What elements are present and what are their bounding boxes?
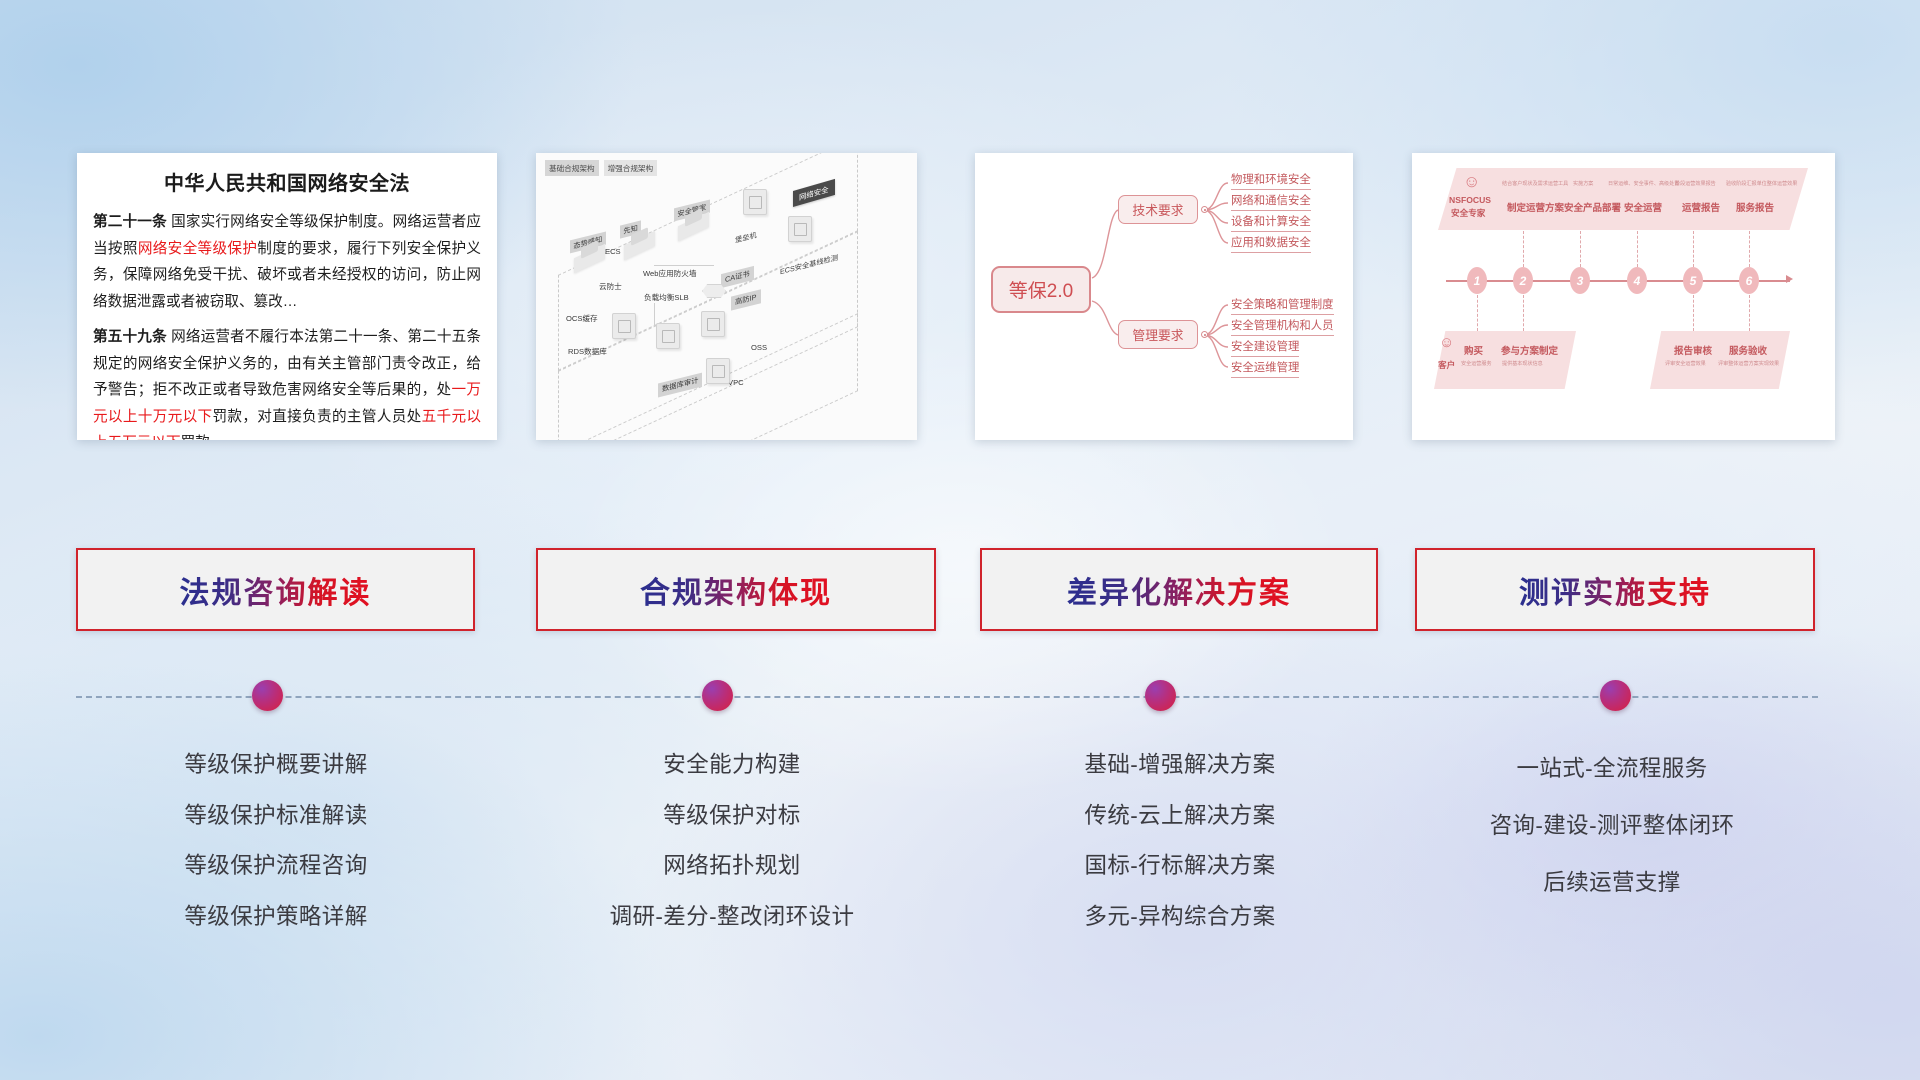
section-title: 合规架构体现 <box>640 568 832 612</box>
mindmap-branch-technical: 技术要求 <box>1118 195 1198 224</box>
mindmap-leaf: 安全运维管理 <box>1231 359 1299 378</box>
mindmap-leaf: 安全策略和管理制度 <box>1231 296 1334 315</box>
label-load-balancer-slb: 负载均衡SLB <box>644 292 689 303</box>
mindmap-branch-management: 管理要求 <box>1118 320 1198 349</box>
flow-band-expert <box>1438 168 1808 230</box>
mindmap-leaf: 设备和计算安全 <box>1231 213 1311 232</box>
flow-sub: 结合客户现状及需求运营工具 <box>1502 180 1568 187</box>
section-heading-box-4[interactable]: 测评实施支持 <box>1415 548 1815 631</box>
flow-caption: 运营报告 <box>1682 200 1720 214</box>
timeline-dashed-line <box>76 696 1818 698</box>
label-ecs: ECS <box>605 247 621 256</box>
mindmap-leaf: 安全管理机构和人员 <box>1231 317 1334 336</box>
article-21-label: 第二十一条 <box>93 214 167 230</box>
article-59-text-2: 罚款，对直接负责的主管人员处 <box>212 409 421 425</box>
flow-caption: 服务报告 <box>1736 200 1774 214</box>
flow-step-number: 5 <box>1683 267 1703 294</box>
flow-caption: 参与方案制定 <box>1501 343 1558 357</box>
node-xianzhi: 先知 <box>624 238 655 253</box>
label-oss: OSS <box>751 343 767 352</box>
server-ecs-baseline: ECS安全基线检测 <box>788 216 812 242</box>
flow-sub: 验收阶段汇报单位整体运营效果 <box>1726 180 1797 187</box>
flow-step-number: 6 <box>1739 267 1759 294</box>
flow-step-number: 3 <box>1570 267 1590 294</box>
list-item: 等级保护标准解读 <box>76 791 476 842</box>
article-59-label: 第五十九条 <box>93 329 167 345</box>
label-web-application-firewall: Web应用防火墙 <box>643 268 696 279</box>
label-rds-database: RDS数据库 <box>568 346 607 357</box>
list-item: 网络拓扑规划 <box>532 841 932 892</box>
list-item: 传统-云上解决方案 <box>980 791 1380 842</box>
mindmap-root: 等保2.0 <box>991 266 1091 313</box>
list-item: 一站式-全流程服务 <box>1412 740 1812 797</box>
list-item: 多元-异构综合方案 <box>980 892 1380 943</box>
section-title: 测评实施支持 <box>1519 568 1711 612</box>
flow-step-number: 4 <box>1627 267 1647 294</box>
flow-step-number: 2 <box>1513 267 1533 294</box>
section-heading-box-1[interactable]: 法规咨询解读 <box>76 548 475 631</box>
mindmap-expand-icon[interactable] <box>1201 331 1208 338</box>
server-bastion-host: 堡垒机 <box>743 189 767 215</box>
section-items-3: 基础-增强解决方案 传统-云上解决方案 国标-行标解决方案 多元-异构综合方案 <box>980 740 1380 942</box>
label-ocs-cache: OCS缓存 <box>566 313 598 324</box>
section-title: 法规咨询解读 <box>180 568 372 612</box>
timeline-dot-4[interactable] <box>1600 680 1631 711</box>
flow-arrow-icon <box>1786 275 1793 283</box>
section-items-2: 安全能力构建 等级保护对标 网络拓扑规划 调研-差分-整改闭环设计 <box>532 740 932 942</box>
server-rds <box>656 323 680 349</box>
article-21-highlight: 网络安全等级保护 <box>138 241 257 257</box>
expert-label-line2: 安全专家 <box>1451 207 1485 219</box>
list-item: 安全能力构建 <box>532 740 932 791</box>
list-item: 后续运营支撑 <box>1412 854 1812 911</box>
flow-step-number: 1 <box>1467 267 1487 294</box>
expert-person-icon: ☺ <box>1463 173 1480 190</box>
flow-caption: 报告审核 <box>1674 343 1712 357</box>
flow-caption: 安全运营 <box>1624 200 1662 214</box>
article-59-text-3: 罚款。 <box>181 435 225 440</box>
customer-person-icon: ☺ <box>1439 335 1454 350</box>
card-compliance-architecture: 基础合规架构 增强合规架构 网络安全 态势感知 先知 安全管家 堡垒机 <box>536 153 917 440</box>
flow-sub: 安全运营服务 <box>1461 360 1492 367</box>
section-items-1: 等级保护概要讲解 等级保护标准解读 等级保护流程咨询 等级保护策略详解 <box>76 740 476 942</box>
customer-label: 客户 <box>1438 359 1455 371</box>
flow-caption: 服务验收 <box>1729 343 1767 357</box>
timeline-dot-2[interactable] <box>702 680 733 711</box>
list-item: 调研-差分-整改闭环设计 <box>532 892 932 943</box>
tab-enhanced-architecture[interactable]: 增强合规架构 <box>604 160 658 176</box>
section-items-4: 一站式-全流程服务 咨询-建设-测评整体闭环 后续运营支撑 <box>1412 740 1812 911</box>
flow-sub: 阶段运营效果报告 <box>1675 180 1716 187</box>
architecture-tabs: 基础合规架构 增强合规架构 <box>545 160 657 176</box>
flow-sub: 日常运维、安全事件、高级处置 <box>1608 180 1679 187</box>
node-security-butler: 安全管家 <box>678 219 709 234</box>
list-item: 等级保护策略详解 <box>76 892 476 943</box>
flow-caption: 安全产品部署 <box>1564 200 1621 214</box>
list-item: 国标-行标解决方案 <box>980 841 1380 892</box>
mindmap-leaf: 安全建设管理 <box>1231 338 1299 357</box>
list-item: 咨询-建设-测评整体闭环 <box>1412 797 1812 854</box>
list-item: 基础-增强解决方案 <box>980 740 1380 791</box>
server-vpc <box>706 358 730 384</box>
flow-sub: 实施方案 <box>1573 180 1593 187</box>
mindmap-expand-icon[interactable] <box>1201 206 1208 213</box>
tab-basic-architecture[interactable]: 基础合规架构 <box>545 160 599 176</box>
section-title: 差异化解决方案 <box>1067 568 1291 612</box>
law-article-21: 第二十一条 国家实行网络安全等级保护制度。网络运营者应当按照网络安全等级保护制度… <box>93 209 481 315</box>
label-cloud-shield: 云防士 <box>599 281 622 292</box>
law-article-59: 第五十九条 网络运营者不履行本法第二十一条、第二十五条规定的网络安全保护义务的，… <box>93 324 481 440</box>
mindmap-leaf: 物理和环境安全 <box>1231 171 1311 190</box>
card-mindmap-dengbao: 等保2.0 技术要求 管理要求 物理和环境安全 网络和通信安全 设备和计算安全 … <box>975 153 1353 440</box>
section-heading-box-2[interactable]: 合规架构体现 <box>536 548 936 631</box>
list-item: 等级保护概要讲解 <box>76 740 476 791</box>
node-situation-awareness: 态势感知 <box>574 251 605 266</box>
flow-caption: 购买 <box>1464 343 1483 357</box>
flow-sub: 提供基本现状信息 <box>1502 360 1543 367</box>
timeline-dot-3[interactable] <box>1145 680 1176 711</box>
label-vpc: VPC <box>728 378 744 387</box>
law-title: 中华人民共和国网络安全法 <box>93 167 481 196</box>
server-oss <box>701 311 725 337</box>
flow-sub: 评审安全运营效果 <box>1665 360 1706 367</box>
card-cybersecurity-law: 中华人民共和国网络安全法 第二十一条 国家实行网络安全等级保护制度。网络运营者应… <box>77 153 497 440</box>
flow-caption: 制定运营方案 <box>1507 200 1564 214</box>
mindmap-leaf: 应用和数据安全 <box>1231 234 1311 253</box>
section-heading-box-3[interactable]: 差异化解决方案 <box>980 548 1378 631</box>
card-service-process-flow: ☺ NSFOCUS 安全专家 结合客户现状及需求运营工具 制定运营方案 实施方案… <box>1412 153 1835 440</box>
timeline-dot-1[interactable] <box>252 680 283 711</box>
list-item: 等级保护流程咨询 <box>76 841 476 892</box>
mindmap-leaf: 网络和通信安全 <box>1231 192 1311 211</box>
flow-sub: 评审整体运营方案实现效果 <box>1718 360 1779 367</box>
list-item: 等级保护对标 <box>532 791 932 842</box>
server-ocs <box>612 313 636 339</box>
expert-label-line1: NSFOCUS <box>1449 195 1491 205</box>
